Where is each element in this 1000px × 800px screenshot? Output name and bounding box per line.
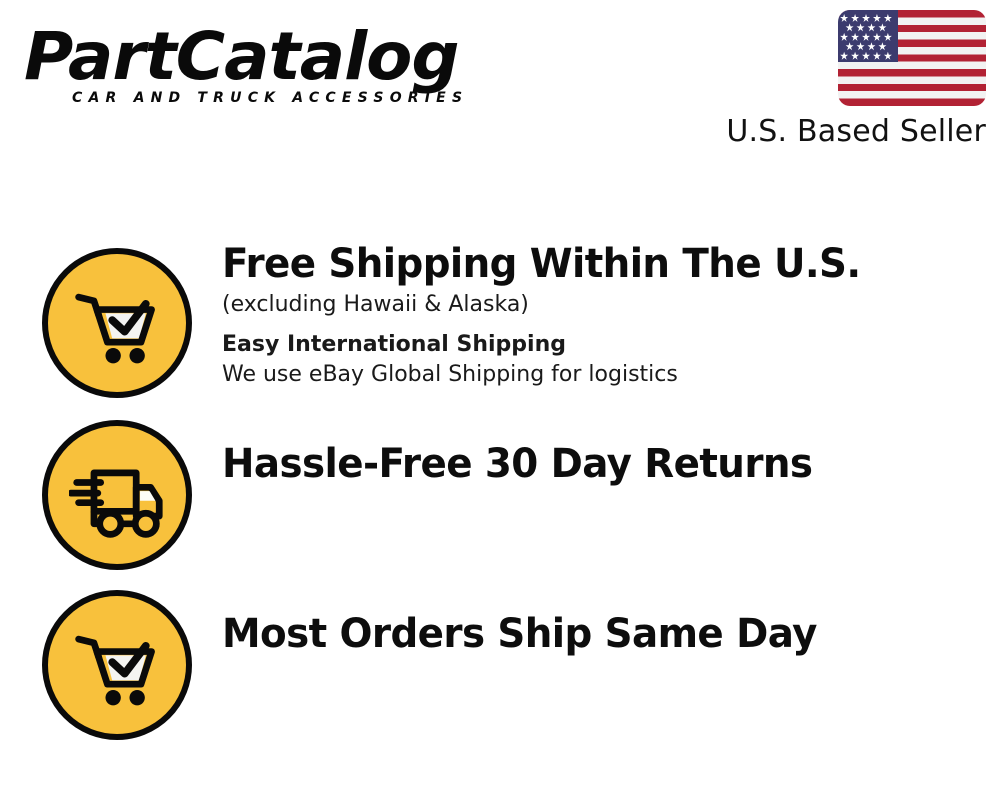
- benefit-heading: Hassle-Free 30 Day Returns: [222, 440, 957, 488]
- benefit-row: Most Orders Ship Same Day: [0, 582, 1000, 752]
- benefit-row: Free Shipping Within The U.S. (excluding…: [0, 240, 1000, 412]
- shopping-cart-check-icon: [42, 248, 192, 398]
- us-based-seller-badge: U.S. Based Seller: [706, 10, 986, 149]
- brand-logo: PartCatalog CAR AND TRUCK ACCESSORIES: [24, 22, 494, 112]
- brand-wordmark: PartCatalog: [24, 22, 503, 92]
- benefit-row: Hassle-Free 30 Day Returns: [0, 412, 1000, 582]
- us-flag-icon: [838, 10, 986, 106]
- shopping-cart-check-icon: [42, 590, 192, 740]
- benefit-subtext-international: Easy International Shipping: [222, 330, 980, 360]
- delivery-truck-icon: [42, 420, 192, 570]
- benefit-heading: Free Shipping Within The U.S.: [222, 240, 957, 288]
- benefit-heading: Most Orders Ship Same Day: [222, 610, 957, 658]
- benefit-text-block: Hassle-Free 30 Day Returns: [222, 440, 980, 488]
- benefit-subtext-logistics: We use eBay Global Shipping for logistic…: [222, 360, 980, 390]
- shipping-info-banner: PartCatalog CAR AND TRUCK ACCESSORIES: [0, 0, 1000, 800]
- flag-stars: [838, 10, 898, 62]
- benefit-subtext-exclusions: (excluding Hawaii & Alaska): [222, 290, 980, 320]
- benefit-text-block: Free Shipping Within The U.S. (excluding…: [222, 240, 980, 390]
- benefit-text-block: Most Orders Ship Same Day: [222, 610, 980, 658]
- us-based-seller-label: U.S. Based Seller: [706, 115, 986, 149]
